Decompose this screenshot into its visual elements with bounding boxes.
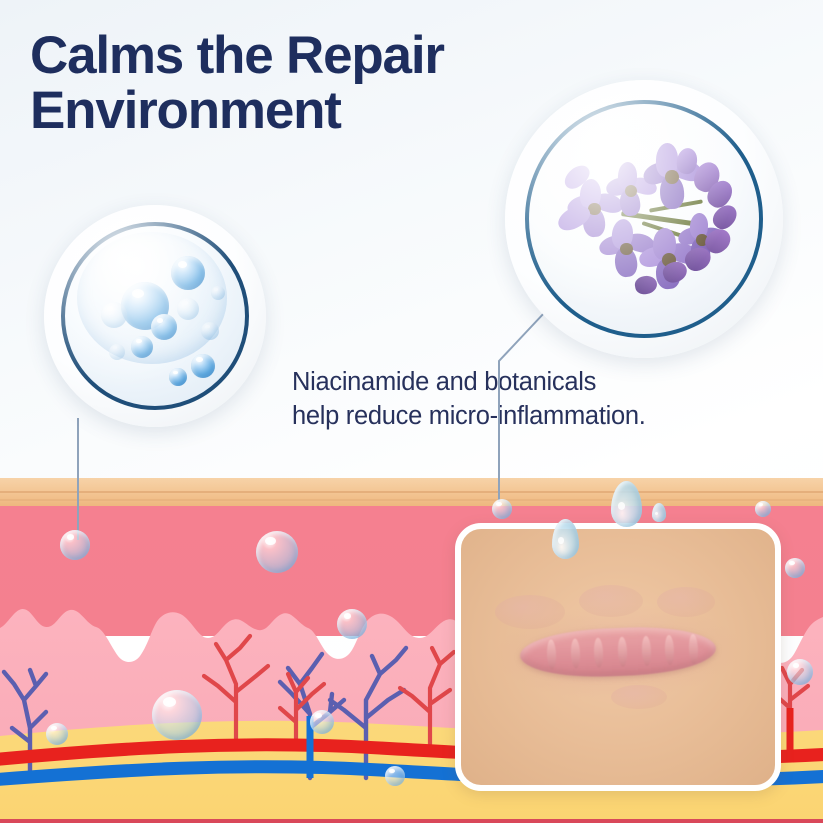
serum-bubble (152, 690, 202, 740)
serum-bubble (337, 609, 367, 639)
serum-bubble (787, 659, 813, 685)
serum-ingredient-dish (44, 205, 266, 427)
serum-bubble (177, 298, 199, 320)
serum-bubble (211, 286, 225, 300)
dish-ring-border (525, 100, 763, 338)
scar-bump (495, 595, 565, 629)
caption-text: Niacinamide and botanicals help reduce m… (292, 366, 772, 433)
serum-bubble (256, 531, 298, 573)
infographic-canvas: Calms the Repair Environment Niacinamide… (0, 0, 823, 823)
scar-photo-panel (455, 523, 781, 791)
botanical-ingredient-dish (505, 80, 783, 358)
serum-droplet (652, 503, 666, 522)
scar-bump (611, 685, 667, 709)
serum-bubble (201, 322, 219, 340)
serum-bubble (385, 766, 405, 786)
diagram-baseline (0, 819, 823, 823)
serum-bubble (101, 302, 127, 328)
scar-bump (579, 585, 643, 617)
serum-bubble (151, 314, 177, 340)
dish-ring-border (61, 222, 249, 410)
serum-bubble (755, 501, 771, 517)
serum-bubble (310, 710, 334, 734)
scar-bump (657, 587, 715, 617)
serum-bubble (191, 354, 215, 378)
serum-bubble (46, 723, 68, 745)
serum-bubble (492, 499, 512, 519)
serum-bubble (60, 530, 90, 560)
serum-bubble (169, 368, 187, 386)
serum-bubble (785, 558, 805, 578)
page-title: Calms the Repair Environment (30, 28, 570, 138)
serum-bubble (131, 336, 153, 358)
serum-bubble (171, 256, 205, 290)
serum-bubble (109, 344, 125, 360)
